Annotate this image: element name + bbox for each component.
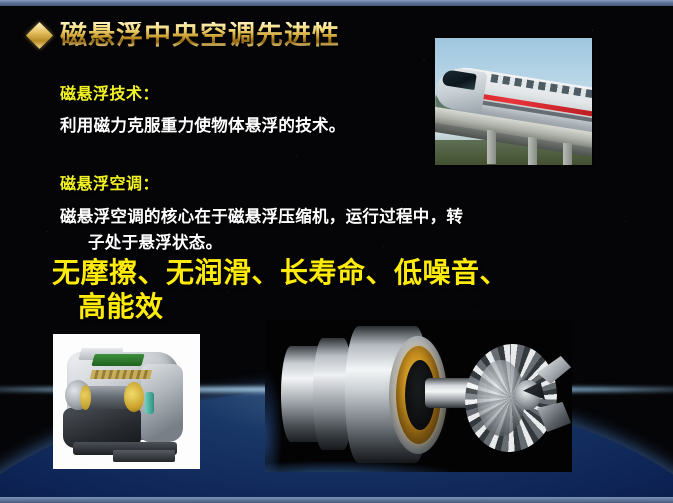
bottom-accent-bar bbox=[0, 497, 673, 503]
train-pier bbox=[528, 137, 537, 165]
train-pier bbox=[487, 130, 496, 164]
section-maglev-air-conditioner: 磁悬浮空调： 磁悬浮空调的核心在于磁悬浮压缩机，运行过程中，转 子处于悬浮状态。 bbox=[60, 170, 463, 253]
magnetic-bearing-rotor-photo bbox=[265, 320, 572, 472]
compressor-coil-right bbox=[124, 382, 144, 412]
compressor-coil-left bbox=[80, 385, 91, 410]
rotor-glow bbox=[265, 454, 572, 472]
diamond-bullet-icon bbox=[26, 22, 53, 49]
rotor-glow-left bbox=[265, 320, 305, 472]
section-maglev-technology: 磁悬浮技术： 利用磁力克服重力使物体悬浮的技术。 bbox=[60, 80, 346, 136]
compressor-bolt-row bbox=[90, 370, 152, 379]
slide-title-row: 磁悬浮中央空调先进性 bbox=[30, 22, 340, 49]
compressor-cutaway-photo bbox=[53, 334, 200, 469]
section-heading: 磁悬浮空调： bbox=[60, 170, 463, 194]
compressor-pipe bbox=[145, 392, 154, 414]
section-heading: 磁悬浮技术： bbox=[60, 80, 346, 104]
benefits-line-2: 高能效 bbox=[52, 290, 582, 324]
benefits-line-1: 无摩擦、无润滑、长寿命、低噪音、 bbox=[52, 257, 508, 288]
benefits-highlight: 无摩擦、无润滑、长寿命、低噪音、 高能效 bbox=[52, 256, 582, 324]
section-body-line-1: 磁悬浮空调的核心在于磁悬浮压缩机，运行过程中，转 bbox=[60, 203, 463, 227]
compressor-control-board bbox=[91, 354, 144, 366]
train-pier bbox=[563, 143, 572, 165]
compressor-foot-rear bbox=[113, 450, 175, 462]
maglev-train-photo bbox=[435, 38, 592, 165]
presentation-slide: 磁悬浮中央空调先进性 磁悬浮技术： 利用磁力克服重力使物体悬浮的技术。 磁悬浮空… bbox=[0, 0, 673, 503]
section-body: 利用磁力克服重力使物体悬浮的技术。 bbox=[60, 112, 346, 136]
section-body-line-2: 子处于悬浮状态。 bbox=[60, 229, 463, 253]
page-title: 磁悬浮中央空调先进性 bbox=[60, 22, 340, 49]
top-accent-bar bbox=[0, 0, 673, 6]
